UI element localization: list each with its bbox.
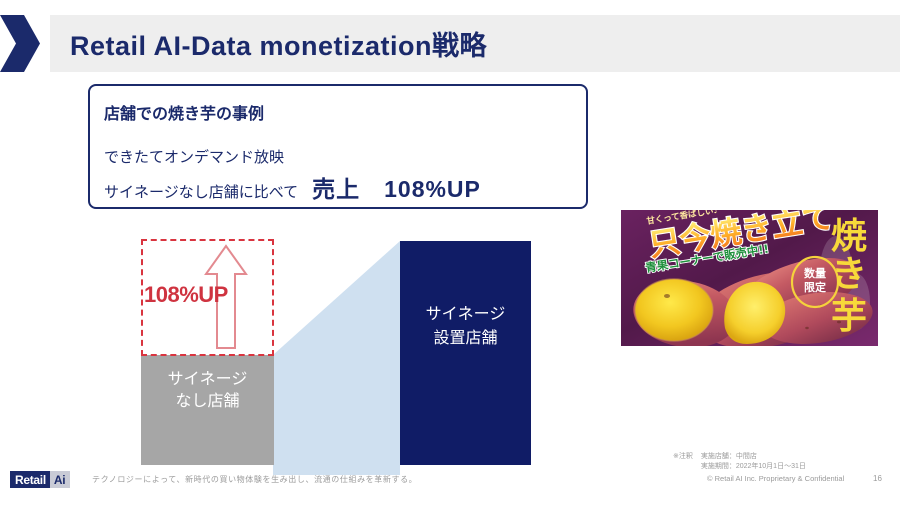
bar-no-signage: サイネージ なし店舗: [141, 355, 274, 465]
bar-no-signage-label: サイネージ なし店舗: [141, 369, 274, 413]
yakiimo-poster-image: 甘くって香ばしい♪ 只今焼き立て 青果コーナーで販売中!! 数量 限定 焼 き …: [621, 210, 878, 346]
retail-ai-logo: Retail Ai: [10, 471, 70, 488]
svg-text:芋: 芋: [831, 296, 867, 337]
bar-no-signage-label-line2: なし店舗: [141, 391, 274, 413]
chevron-right-icon: [0, 15, 40, 72]
slide-canvas: Retail AI-Data monetization戦略 店舗での焼き芋の事例…: [0, 0, 900, 505]
bar-with-signage-label-line2: 設置店舗: [400, 327, 531, 351]
copyright-text: © Retail AI Inc. Proprietary & Confident…: [707, 474, 844, 483]
logo-left-text: Retail: [10, 471, 50, 488]
page-title: Retail AI-Data monetization戦略: [70, 24, 487, 63]
uplift-percent-label: 108%UP: [144, 282, 228, 308]
svg-text:焼: 焼: [831, 216, 867, 257]
svg-text:限定: 限定: [804, 280, 826, 294]
callout-line-1: できたてオンデマンド放映: [104, 146, 284, 167]
svg-text:き: き: [831, 254, 867, 295]
footnote-line-1: 実施店舗：中間店: [701, 452, 806, 462]
bar-with-signage-label-line1: サイネージ: [400, 303, 531, 327]
footnote-label: ※注釈: [673, 452, 693, 462]
callout-line-2-row: サイネージなし店舗に比べて 売上 108%UP: [104, 170, 481, 204]
callout-line-2: サイネージなし店舗に比べて: [104, 181, 298, 202]
svg-text:数量: 数量: [804, 266, 826, 280]
logo-right-text: Ai: [50, 471, 70, 488]
sales-comparison-chart: サイネージ なし店舗 サイネージ 設置店舗 108%UP: [120, 230, 550, 475]
bar-with-signage: サイネージ 設置店舗: [400, 241, 531, 465]
company-tagline: テクノロジーによって、新時代の買い物体験を生み出し、流通の仕組みを革新する。: [92, 474, 417, 485]
page-number: 16: [873, 474, 882, 483]
bar-with-signage-label: サイネージ 設置店舗: [400, 303, 531, 351]
case-study-callout: 店舗での焼き芋の事例 できたてオンデマンド放映 サイネージなし店舗に比べて 売上…: [88, 84, 588, 209]
bar-no-signage-label-line1: サイネージ: [141, 369, 274, 391]
footnote-line-2: 実施期間：2022年10月1日〜31日: [701, 462, 806, 472]
callout-highlight-metric: 売上 108%UP: [312, 170, 481, 204]
callout-heading: 店舗での焼き芋の事例: [104, 100, 264, 124]
footnote-block: ※注釈 実施店舗：中間店 実施期間：2022年10月1日〜31日: [673, 452, 806, 472]
footnote-lines: 実施店舗：中間店 実施期間：2022年10月1日〜31日: [701, 452, 806, 472]
chart-connector-shape: [273, 241, 400, 475]
